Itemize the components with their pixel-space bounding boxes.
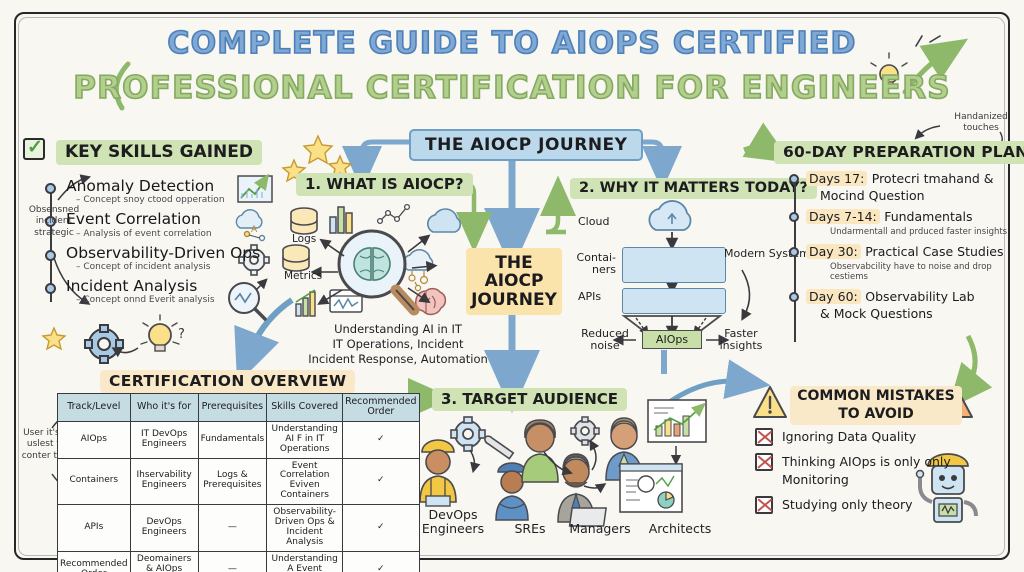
x-mark-icon [755, 428, 773, 446]
bullet-dot-icon [789, 174, 799, 184]
cell-skills: Observability-Driven Ops & Incident Anal… [267, 505, 343, 552]
caption-line-2: IT Operations, Incident [288, 337, 508, 352]
apis-panel [622, 288, 726, 314]
annotation-skills: Obsensned incident strategic [18, 205, 90, 239]
cell-prereq: — [198, 551, 267, 572]
section-2-heading-block: 2. WHY IT MATTERS TODAY? [570, 178, 817, 199]
skill-title: Observability-Driven Ops [66, 245, 260, 261]
plan-heading-block: 60-DAY PREPARATION PLAN [774, 141, 1024, 164]
plan-item-title: Protecri tmahand & [872, 171, 994, 186]
bullet-dot-icon [789, 212, 799, 222]
persona-label-architects: Architects [640, 522, 720, 536]
certification-heading-block: CERTIFICATION OVERVIEW [100, 370, 355, 393]
plan-item-title: Practical Case Studies [865, 244, 1003, 259]
section-3-heading-block: 3. TARGET AUDIENCE [432, 388, 627, 411]
column-header-who: Who it's for [130, 394, 198, 422]
skill-title: Event Correlation [66, 211, 260, 227]
journey-core-line3: JOURNEY [470, 291, 558, 309]
section-1-heading: 1. WHAT IS AIOCP? [296, 173, 473, 196]
table-row[interactable]: Containers Ihservability Engineers Logs … [58, 458, 420, 505]
aiops-funnel-label: AIOps [642, 330, 702, 349]
plan-item-sub: Undarmentall and prduced faster insights [830, 227, 1021, 238]
bullet-dot-icon [789, 292, 799, 302]
section-3-heading: 3. TARGET AUDIENCE [432, 388, 627, 411]
cell-track: Containers [58, 458, 131, 505]
mistakes-heading-line-1: COMMON MISTAKES [797, 388, 955, 404]
list-item[interactable]: Observability-Driven Ops – Concept of in… [66, 245, 260, 272]
cell-track: Recommended Order [58, 551, 131, 572]
journey-banner-block: THE AIOCP JOURNEY [409, 129, 643, 161]
skill-title: Incident Analysis [66, 278, 260, 294]
caption-line-3: Incident Response, Automation [288, 352, 508, 367]
cell-track: APIs [58, 505, 131, 552]
column-header-prereq: Prerequisites [198, 394, 267, 422]
list-item[interactable]: Days 7-14: Fundamentals Undarmentall and… [806, 208, 1021, 238]
plan-item-title: Observability Lab [865, 289, 974, 304]
cell-prereq: Logs & Prerequisites [198, 458, 267, 505]
cell-order-check: ✓ [343, 458, 419, 505]
plan-item-title: Fundamentals [884, 209, 972, 224]
cell-order-check: ✓ [343, 505, 419, 552]
list-item[interactable]: Studying only theory [782, 496, 972, 514]
label-reduced-noise: Reduced noise [575, 328, 635, 352]
persona-label-sres: SREs [500, 522, 560, 536]
bullet-dot-icon [45, 183, 56, 194]
plan-item-sub: Observabcility have to noise and drop ce… [830, 262, 1021, 283]
list-item[interactable]: Day 30: Practical Case Studies Observabc… [806, 243, 1021, 283]
label-cloud: Cloud [578, 216, 609, 228]
label-containers: Contai- ners [568, 252, 616, 276]
certification-heading: CERTIFICATION OVERVIEW [100, 370, 355, 393]
list-item[interactable]: Thinking AIOps is only only Monitoring [782, 453, 972, 489]
cell-skills: Understanding AI F in IT Operations [267, 421, 343, 458]
mistakes-heading-block: COMMON MISTAKES TO AVOID [786, 386, 966, 425]
section-1-heading-block: 1. WHAT IS AIOCP? [296, 173, 473, 196]
bullet-dot-icon [45, 283, 56, 294]
journey-core-line2: AIOCP [470, 272, 558, 290]
skill-title: Anomaly Detection [66, 178, 260, 194]
list-item[interactable]: Ignoring Data Quality [782, 428, 972, 446]
title-line-1: COMPLETE GUIDE TO AIOPS CERTIFIED [0, 26, 1024, 61]
persona-label-devops: DevOps Engineers [410, 508, 496, 537]
table-row[interactable]: APIs DevOps Engineers — Observability-Dr… [58, 505, 420, 552]
key-skills-heading-block: KEY SKILLS GAINED [56, 140, 262, 165]
mistakes-heading-line-2: TO AVOID [838, 406, 914, 422]
plan-day-label: Day 60: [806, 289, 861, 304]
cell-order-check: ✓ [343, 421, 419, 458]
list-item[interactable]: Days 17: Protecri tmahand & Mocind Quest… [806, 170, 1021, 203]
cell-order-check: ✓ [343, 551, 419, 572]
key-skills-heading: KEY SKILLS GAINED [56, 140, 262, 165]
table-header-row: Track/Level Who it's for Prerequisites S… [58, 394, 420, 422]
section-1-caption: Understanding AI in IT IT Operations, In… [288, 322, 508, 368]
cell-prereq: Fundamentals [198, 421, 267, 458]
label-apis: APIs [578, 291, 601, 303]
mistakes-heading: COMMON MISTAKES TO AVOID [790, 386, 962, 425]
cell-who: IT DevOps Engineers [130, 421, 198, 458]
annotation-handdrawn-touches: Handanized touches [944, 112, 1018, 135]
cell-skills: Event Correlation Eviven Containers [267, 458, 343, 505]
skill-subtitle: – Concept snoy ctood opperation [76, 195, 260, 205]
cell-who: Ihservability Engineers [130, 458, 198, 505]
mistake-text: Studying only theory [782, 497, 913, 512]
cell-track: AIOps [58, 421, 131, 458]
mistakes-list: Ignoring Data Quality Thinking AIOps is … [782, 428, 972, 521]
label-logs: Logs [292, 233, 316, 245]
plan-item-title-cont: & Mock Questions [820, 306, 1021, 321]
column-header-order: Recommended Order [343, 394, 419, 422]
caption-line-1: Understanding AI in IT [288, 322, 508, 337]
x-mark-icon [755, 496, 773, 514]
section-2-heading: 2. WHY IT MATTERS TODAY? [570, 178, 817, 199]
mistake-text: Ignoring Data Quality [782, 429, 916, 444]
certification-table: Track/Level Who it's for Prerequisites S… [57, 393, 420, 572]
journey-banner-label: THE AIOCP JOURNEY [409, 129, 643, 161]
cell-skills: Understanding A Event Analysis [267, 551, 343, 572]
plan-item-title-cont: Mocind Question [820, 188, 1021, 203]
skill-subtitle: – Concept onnd Everit analysis [76, 295, 260, 305]
journey-core-line1: THE [470, 254, 558, 272]
label-faster-insights: Faster insights [712, 328, 770, 352]
label-modern-systems: Modern Systems [724, 248, 816, 260]
plan-day-label: Days 7-14: [806, 209, 880, 224]
infographic-canvas: ? [0, 0, 1024, 572]
list-item[interactable]: Day 60: Observability Lab & Mock Questio… [806, 288, 1021, 321]
cell-who: DevOps Engineers [130, 505, 198, 552]
list-item[interactable]: Event Correlation – Analysis of event co… [66, 211, 260, 238]
persona-label-managers: Managers [560, 522, 640, 536]
cell-who: Deomainers & AIOps Studies [130, 551, 198, 572]
title-line-2: PROFESSIONAL CERTIFICATION FOR ENGINEERS [0, 70, 1024, 106]
plan-timeline-spine [794, 176, 796, 342]
checkbox-checked-icon [23, 138, 45, 160]
containers-panel [622, 247, 726, 283]
table-row[interactable]: Recommended Order Deomainers & AIOps Stu… [58, 551, 420, 572]
key-skills-list: Anomaly Detection – Concept snoy ctood o… [66, 178, 260, 311]
bullet-dot-icon [789, 247, 799, 257]
table-row[interactable]: AIOps IT DevOps Engineers Fundamentals U… [58, 421, 420, 458]
plan-list: Days 17: Protecri tmahand & Mocind Quest… [806, 170, 1021, 326]
column-header-track: Track/Level [58, 394, 131, 422]
label-metrics: Metrics [284, 270, 322, 282]
mistake-text: Thinking AIOps is only only Monitoring [782, 454, 951, 487]
plan-day-label: Day 30: [806, 244, 861, 259]
list-item[interactable]: Incident Analysis – Concept onnd Everit … [66, 278, 260, 305]
bullet-dot-icon [45, 250, 56, 261]
journey-core-badge: THE AIOCP JOURNEY [466, 248, 562, 315]
svg-text:?: ? [178, 327, 185, 342]
x-mark-icon [755, 453, 773, 471]
skill-subtitle: – Analysis of event correlation [76, 229, 260, 239]
skill-subtitle: – Concept of incident analysis [76, 262, 260, 272]
plan-heading: 60-DAY PREPARATION PLAN [774, 141, 1024, 164]
column-header-skills: Skills Covered [267, 394, 343, 422]
plan-day-label: Days 17: [806, 171, 867, 186]
cell-prereq: — [198, 505, 267, 552]
list-item[interactable]: Anomaly Detection – Concept snoy ctood o… [66, 178, 260, 205]
